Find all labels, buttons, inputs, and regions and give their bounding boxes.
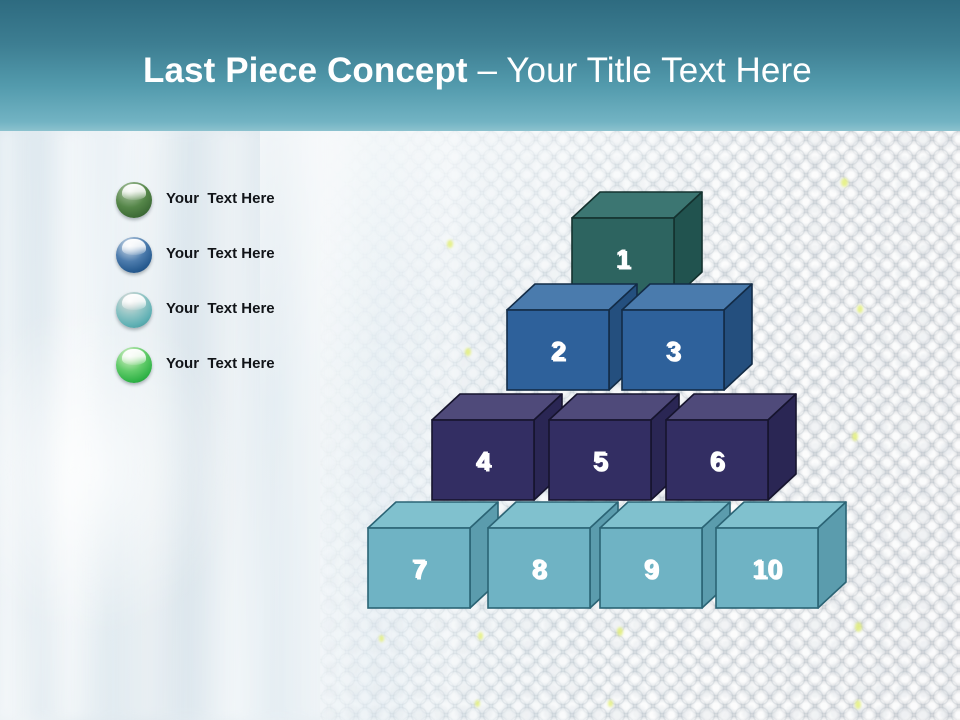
cube-number-label: 2 bbox=[550, 336, 565, 366]
sphere-teal-icon bbox=[116, 292, 152, 328]
cube-number-label: 1 bbox=[615, 244, 630, 274]
cube-number-label: 7 bbox=[411, 554, 426, 584]
page-title-suffix: – Your Title Text Here bbox=[468, 51, 812, 90]
cube-number-label: 6 bbox=[709, 446, 724, 476]
cube-9[interactable]: 99 bbox=[599, 501, 731, 609]
list-item-label: Your Text Here bbox=[166, 355, 275, 372]
list-item[interactable]: Your Text Here bbox=[116, 292, 376, 347]
cube-3[interactable]: 33 bbox=[621, 283, 753, 391]
cube-7[interactable]: 77 bbox=[367, 501, 499, 609]
cube-number-label: 4 bbox=[475, 446, 490, 476]
background-speck bbox=[841, 178, 848, 187]
cube-6[interactable]: 66 bbox=[665, 393, 797, 501]
cube-10[interactable]: 1010 bbox=[715, 501, 847, 609]
background-speck bbox=[478, 632, 483, 640]
cube-4[interactable]: 44 bbox=[431, 393, 563, 501]
background-speck bbox=[608, 700, 613, 707]
page-title: Last Piece Concept – Your Title Text Her… bbox=[143, 49, 812, 93]
sphere-blue-navy-icon bbox=[116, 237, 152, 273]
cube-5[interactable]: 55 bbox=[548, 393, 680, 501]
bullet-list: Your Text Here Your Text Here Your Text … bbox=[116, 182, 376, 402]
cube-2[interactable]: 22 bbox=[506, 283, 638, 391]
sphere-green-bright-icon bbox=[116, 347, 152, 383]
background-speck bbox=[855, 622, 862, 632]
sphere-green-dark-icon bbox=[116, 182, 152, 218]
list-item-label: Your Text Here bbox=[166, 190, 275, 207]
list-item[interactable]: Your Text Here bbox=[116, 182, 376, 237]
slide-canvas: Last Piece Concept – Your Title Text Her… bbox=[0, 0, 960, 720]
background-speck bbox=[852, 432, 858, 441]
cube-number-label: 10 bbox=[752, 554, 782, 584]
page-title-emphasis: Last Piece Concept bbox=[143, 51, 468, 90]
background-speck bbox=[475, 700, 480, 707]
list-item-label: Your Text Here bbox=[166, 300, 275, 317]
cube-number-label: 8 bbox=[531, 554, 546, 584]
background-speck bbox=[447, 240, 453, 248]
list-item[interactable]: Your Text Here bbox=[116, 347, 376, 402]
background-speck bbox=[617, 627, 623, 636]
background-speck bbox=[465, 348, 471, 356]
background-speck bbox=[379, 635, 384, 642]
list-item-label: Your Text Here bbox=[166, 245, 275, 262]
cube-number-label: 9 bbox=[643, 554, 658, 584]
cube-number-label: 5 bbox=[592, 446, 607, 476]
cube-number-label: 3 bbox=[665, 336, 680, 366]
background-speck bbox=[857, 305, 863, 313]
list-item[interactable]: Your Text Here bbox=[116, 237, 376, 292]
background-speck bbox=[855, 700, 861, 709]
